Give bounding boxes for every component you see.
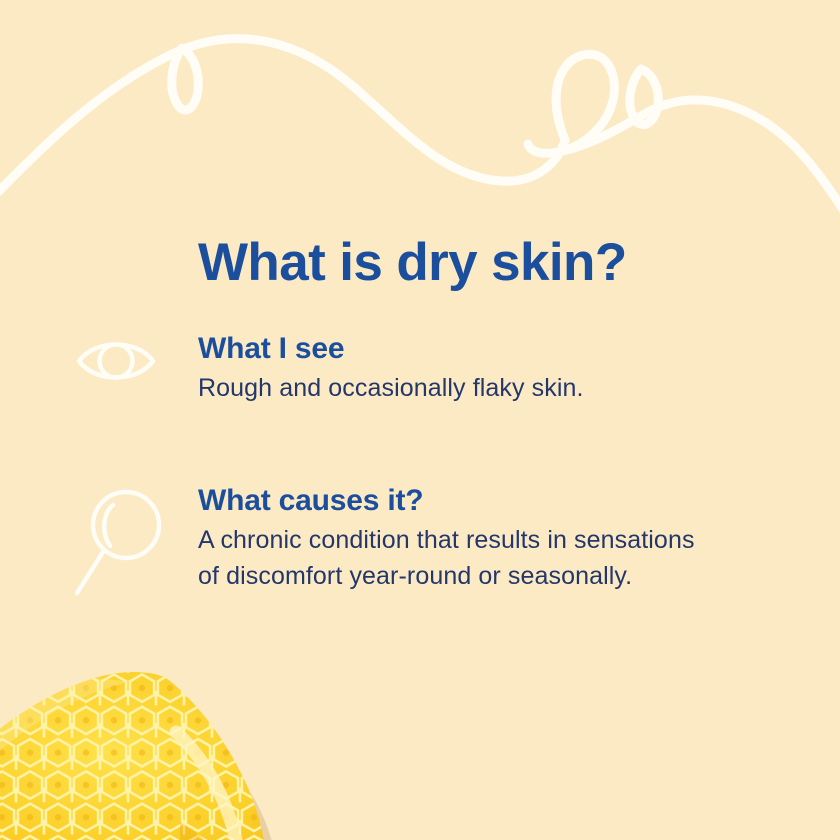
section-text: A chronic condition that results in sens… <box>198 523 798 594</box>
section-text-line: of discomfort year-round or seasonally. <box>198 559 798 595</box>
section-text: Rough and occasionally flaky skin. <box>198 371 798 407</box>
section-body: What causes it? A chronic condition that… <box>198 483 798 594</box>
vine-doodle <box>0 0 840 230</box>
section-body: What I see Rough and occasionally flaky … <box>198 331 798 407</box>
page-title: What is dry skin? <box>198 235 627 291</box>
section-text-line: A chronic condition that results in sens… <box>198 523 798 559</box>
dry-skin-infographic: What is dry skin? What I see Rough and o… <box>0 0 840 840</box>
eye-icon <box>70 331 170 391</box>
section-heading: What I see <box>198 331 798 366</box>
magnifier-icon <box>70 483 170 598</box>
section-text-line: Rough and occasionally flaky skin. <box>198 371 798 407</box>
honeycomb-image <box>0 672 360 840</box>
section-heading: What causes it? <box>198 483 798 518</box>
